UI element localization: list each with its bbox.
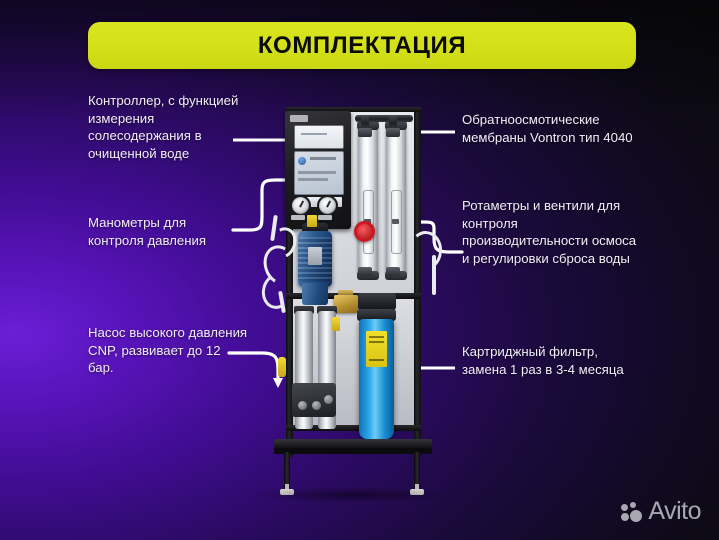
controller-text-line-2 (298, 171, 336, 174)
cartridge-label-line-2 (369, 341, 384, 343)
controller-text-line-3 (298, 178, 328, 181)
cartridge-label-line-3 (369, 359, 384, 361)
callout-pump: Насос высокого давления CNP, развивает д… (88, 324, 248, 377)
controller-indicator (298, 157, 306, 165)
yellow-tag-2 (332, 317, 340, 331)
pipe-drop-1 (361, 115, 369, 129)
frame-post-right (414, 107, 421, 457)
gauge-plate-1 (291, 215, 305, 220)
frame-base-top (274, 439, 432, 448)
pump-nameplate (308, 247, 322, 265)
callout-cartridge-filter: Картриджный фильтр, замена 1 раз в 3-4 м… (462, 343, 634, 378)
reverse-osmosis-system-image (262, 95, 442, 495)
callout-controller: Контроллер, с функцией измерения солесод… (88, 92, 240, 162)
callout-membranes: Обратноосмотические мембраны Vontron тип… (462, 111, 637, 146)
controller-text-line-1 (310, 157, 336, 160)
avito-dot-2 (621, 513, 629, 521)
pipe-union-1 (358, 128, 372, 137)
gauge-plate-2 (318, 215, 332, 220)
brass-solenoid-valve (334, 295, 358, 313)
avito-dot-4 (630, 510, 642, 522)
red-valve-handle (354, 221, 375, 242)
avito-dot-3 (630, 502, 636, 508)
floor-shadow (250, 487, 454, 503)
pressure-gauge-1 (290, 195, 311, 216)
rotameter-float-2 (392, 219, 399, 224)
frame-base-side (274, 448, 432, 454)
avito-wordmark: Avito (648, 497, 701, 526)
avito-logo-icon (621, 502, 643, 522)
avito-watermark: Avito (621, 497, 701, 526)
callout-rotameters: Ротаметры и вентили для контроля произво… (462, 197, 642, 267)
pressure-gauge-2 (317, 195, 338, 216)
yellow-tag-3 (278, 357, 286, 377)
hose-segment-right (432, 255, 436, 295)
cartridge-label-line-1 (369, 336, 384, 338)
controller-logo (290, 115, 308, 122)
manifold-knob-2 (312, 401, 321, 410)
callout-manometers: Манометры для контроля давления (88, 214, 238, 249)
pipe-union-2 (386, 128, 400, 137)
pipe-union-3 (358, 267, 372, 276)
manifold-knob-3 (324, 395, 333, 404)
avito-dot-1 (621, 504, 628, 511)
manifold-knob-1 (298, 401, 307, 410)
pump-head (302, 283, 328, 305)
slide-canvas: КОМПЛЕКТАЦИЯ (0, 0, 719, 540)
yellow-tag-1 (307, 215, 317, 227)
solenoid-coil (358, 293, 396, 310)
pipe-drop-2 (389, 115, 397, 129)
controller-display (294, 125, 344, 149)
pipe-union-4 (386, 267, 400, 276)
